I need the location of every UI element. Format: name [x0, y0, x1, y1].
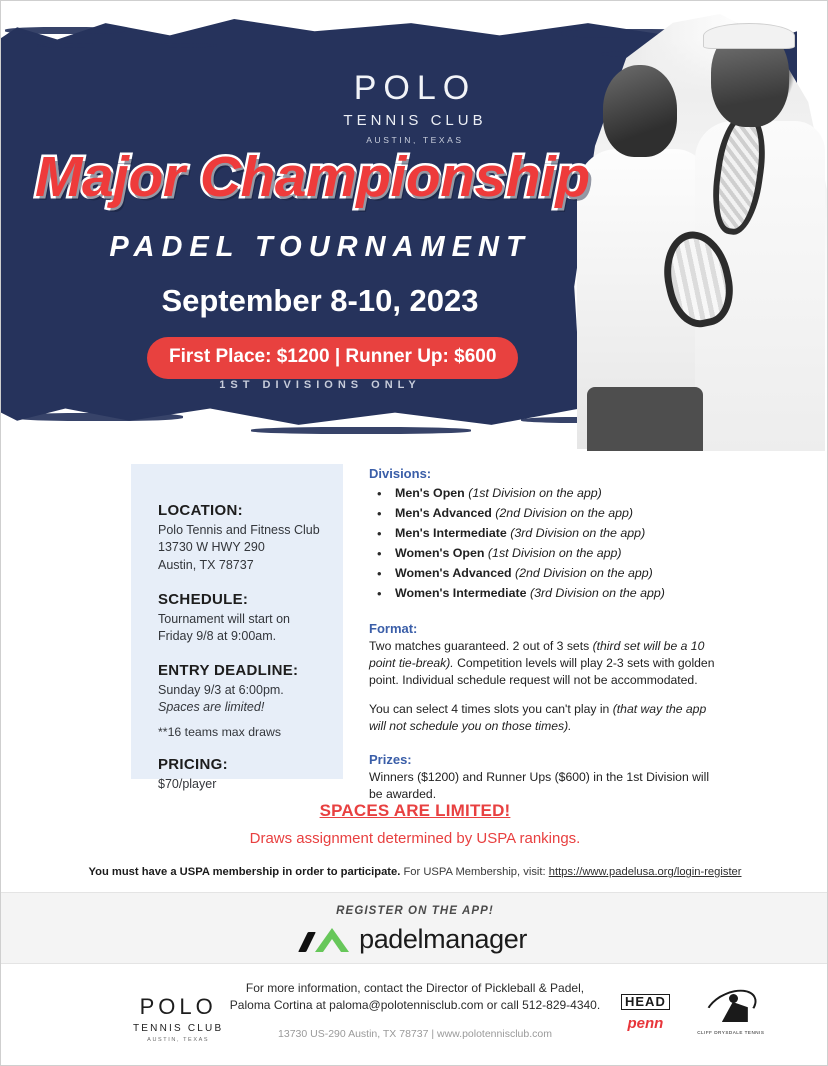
page-title: Major Championship: [35, 149, 635, 206]
format-section: Format: Two matches guaranteed. 2 out of…: [369, 621, 719, 735]
spaces-limited-text: SPACES ARE LIMITED!: [1, 801, 828, 821]
footer-contact-block: For more information, contact the Direct…: [215, 980, 615, 1040]
footer-polo-logo: POLO TENNIS CLUB AUSTIN, TEXAS: [133, 994, 223, 1043]
format-paragraph-1: Two matches guaranteed. 2 out of 3 sets …: [369, 638, 719, 689]
cliff-drysdale-logo: CLIFF DRYSDALE TENNIS: [694, 990, 768, 1035]
hero-banner: POLO TENNIS CLUB AUSTIN, TEXAS Major Cha…: [1, 9, 828, 454]
brush-fleck: [5, 27, 125, 34]
logo-slash-shape: [298, 932, 316, 952]
logo-chevron-shape: [315, 928, 349, 952]
footer-contact-line-1: For more information, contact the Direct…: [215, 980, 615, 997]
list-item: Women's Advanced (2nd Division on the ap…: [373, 563, 719, 583]
head-wordmark: HEAD: [621, 994, 670, 1010]
division-note: (1st Division on the app): [488, 546, 622, 560]
schedule-line-2: Friday 9/8 at 9:00am.: [158, 628, 343, 645]
division-note: (3rd Division on the app): [530, 586, 665, 600]
logo-player-head-shape: [729, 994, 738, 1003]
schedule-line-1: Tournament will start on: [158, 611, 343, 628]
logo-polo-text: POLO: [1, 71, 828, 105]
footer-logo-tennis-club-text: TENNIS CLUB: [133, 1023, 223, 1034]
divisions-list: Men's Open (1st Division on the app) Men…: [373, 483, 719, 604]
page-footer: POLO TENNIS CLUB AUSTIN, TEXAS For more …: [1, 964, 828, 1066]
prizes-heading: Prizes:: [369, 752, 719, 767]
location-line-3: Austin, TX 78737: [158, 557, 343, 574]
spacer: [158, 739, 343, 756]
spacer: [369, 689, 719, 701]
location-line-1: Polo Tennis and Fitness Club: [158, 522, 343, 539]
division-name: Women's Open: [395, 546, 484, 560]
division-name: Women's Advanced: [395, 566, 512, 580]
format-p2-a: You can select 4 times slots you can't p…: [369, 702, 613, 716]
division-note: (1st Division on the app): [468, 486, 602, 500]
list-item: Men's Open (1st Division on the app): [373, 483, 719, 503]
brush-fleck: [37, 43, 217, 48]
photo-visor: [703, 23, 795, 49]
tennis-player-icon: [702, 990, 760, 1028]
subtitle: PADEL TOURNAMENT: [1, 231, 828, 264]
brush-fleck: [251, 427, 471, 434]
divisions-only-note: 1ST DIVISIONS ONLY: [1, 379, 828, 391]
footer-brand-logos: HEAD penn CLIFF DRYSDALE TENNIS: [621, 990, 768, 1035]
padelmanager-logo[interactable]: padelmanager: [1, 924, 828, 955]
entry-deadline-line-2: Spaces are limited!: [158, 700, 343, 714]
spacer: [158, 645, 343, 662]
uspa-rest-text: For USPA Membership, visit:: [400, 866, 548, 878]
logo-city-text: AUSTIN, TEXAS: [1, 135, 828, 145]
padelmanager-mark-icon: [303, 927, 349, 953]
register-on-app-label: REGISTER ON THE APP!: [1, 893, 828, 917]
spacer: [158, 574, 343, 591]
entry-deadline-label: ENTRY DEADLINE:: [158, 662, 343, 679]
brush-fleck: [13, 413, 183, 421]
details-info-box: LOCATION: Polo Tennis and Fitness Club 1…: [131, 464, 343, 779]
division-note: (3rd Division on the app): [510, 526, 645, 540]
list-item: Men's Advanced (2nd Division on the app): [373, 503, 719, 523]
location-line-2: 13730 W HWY 290: [158, 539, 343, 556]
entry-deadline-line-1: Sunday 9/3 at 6:00pm.: [158, 682, 343, 699]
limited-spaces-callout: SPACES ARE LIMITED! Draws assignment det…: [1, 801, 828, 878]
format-p1-a: Two matches guaranteed. 2 out of 3 sets: [369, 639, 593, 653]
penn-wordmark: penn: [621, 1015, 670, 1032]
division-name: Men's Open: [395, 486, 465, 500]
head-penn-logo: HEAD penn: [621, 993, 670, 1032]
list-item: Women's Open (1st Division on the app): [373, 543, 719, 563]
polo-tennis-club-logo: POLO TENNIS CLUB AUSTIN, TEXAS: [1, 71, 828, 145]
event-date: September 8-10, 2023: [1, 283, 828, 319]
footer-contact-line-2: Paloma Cortina at paloma@polotennisclub.…: [215, 997, 615, 1014]
division-name: Women's Intermediate: [395, 586, 526, 600]
list-item: Women's Intermediate (3rd Division on th…: [373, 583, 719, 603]
pricing-value: $70/player: [158, 776, 343, 793]
divisions-heading: Divisions:: [369, 466, 719, 481]
pricing-label: PRICING:: [158, 756, 343, 773]
draws-assignment-text: Draws assignment determined by USPA rank…: [1, 830, 828, 847]
uspa-membership-line: You must have a USPA membership in order…: [1, 866, 828, 878]
register-app-band: REGISTER ON THE APP! padelmanager: [1, 892, 828, 964]
prize-badge: First Place: $1200 | Runner Up: $600: [147, 337, 518, 379]
prizes-section: Prizes: Winners ($1200) and Runner Ups (…: [369, 752, 719, 803]
division-name: Men's Advanced: [395, 506, 492, 520]
uspa-registration-link[interactable]: https://www.padelusa.org/login-register: [549, 866, 742, 878]
schedule-label: SCHEDULE:: [158, 591, 343, 608]
flyer-page: POLO TENNIS CLUB AUSTIN, TEXAS Major Cha…: [0, 0, 828, 1066]
right-content-column: Divisions: Men's Open (1st Division on t…: [369, 466, 719, 803]
logo-tennis-club-text: TENNIS CLUB: [1, 112, 828, 129]
list-item: Men's Intermediate (3rd Division on the …: [373, 523, 719, 543]
max-draws-note: **16 teams max draws: [158, 725, 343, 739]
division-name: Men's Intermediate: [395, 526, 507, 540]
uspa-bold-text: You must have a USPA membership in order…: [88, 866, 400, 878]
footer-logo-city-text: AUSTIN, TEXAS: [133, 1037, 223, 1043]
footer-address: 13730 US-290 Austin, TX 78737 | www.polo…: [215, 1028, 615, 1040]
format-paragraph-2: You can select 4 times slots you can't p…: [369, 701, 719, 735]
padelmanager-wordmark: padelmanager: [359, 924, 527, 955]
prizes-text: Winners ($1200) and Runner Ups ($600) in…: [369, 769, 719, 803]
photo-male-shorts: [587, 387, 703, 451]
division-note: (2nd Division on the app): [495, 506, 633, 520]
format-heading: Format:: [369, 621, 719, 636]
cliff-drysdale-wordmark: CLIFF DRYSDALE TENNIS: [694, 1030, 768, 1035]
location-label: LOCATION:: [158, 502, 343, 519]
division-note: (2nd Division on the app): [515, 566, 653, 580]
footer-logo-polo-text: POLO: [133, 994, 223, 1020]
